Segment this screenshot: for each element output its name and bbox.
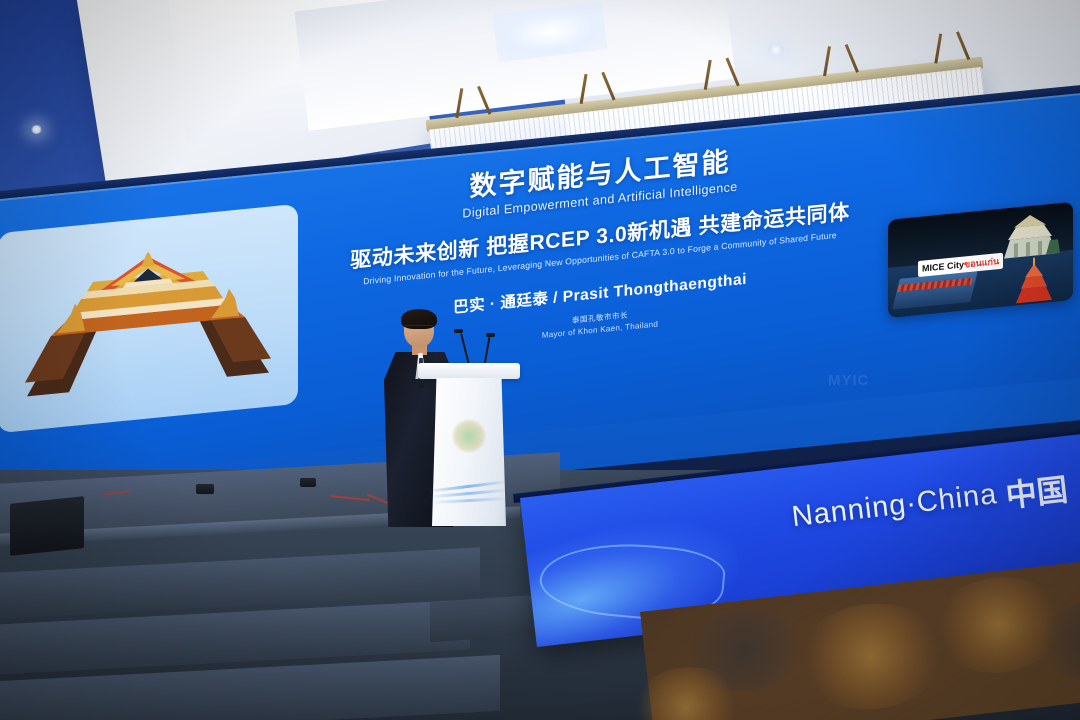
stage-monitor-speaker	[10, 496, 84, 556]
temple-photo-icon	[1000, 209, 1060, 261]
banner-text-en: Nanning·China	[790, 478, 999, 534]
red-pagoda-icon	[1012, 255, 1056, 305]
chandelier-hanger	[820, 43, 859, 77]
mice-label-en: MICE City	[922, 259, 964, 273]
microphone-head	[454, 329, 463, 333]
floor-light-fixture	[300, 478, 316, 487]
temple-graphic-panel	[0, 204, 298, 433]
podium	[424, 363, 514, 533]
podium-top	[418, 363, 520, 379]
chandelier-hanger	[452, 85, 491, 119]
banner-text-cn: 中国	[1003, 464, 1070, 516]
event-emblem	[452, 419, 486, 453]
floor-light-fixture	[196, 484, 214, 494]
chandelier-hanger	[931, 30, 970, 64]
podium-wave-graphic	[430, 475, 510, 515]
mice-city-khonkaen-card: MICE Cityขอนแก่น	[888, 202, 1073, 318]
microphone-head	[486, 333, 495, 337]
speaker-glasses	[405, 325, 433, 333]
recessed-downlight	[30, 125, 43, 134]
chandelier-hanger	[701, 56, 740, 90]
chandelier-hanger	[576, 71, 615, 105]
screen-watermark: MYIC	[828, 372, 870, 389]
mice-label-th: ขอนแก่น	[964, 256, 999, 269]
recessed-downlight	[768, 44, 784, 56]
thai-temple-gate-icon	[23, 240, 273, 415]
carpet-motif-gold	[791, 596, 952, 717]
conference-hall-photo: 数字赋能与人工智能 Digital Empowerment and Artifi…	[0, 0, 1080, 720]
